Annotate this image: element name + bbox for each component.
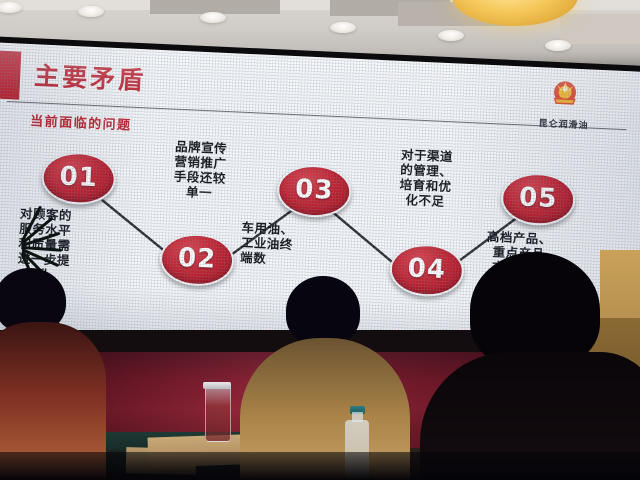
photo-scene: 主要矛盾 当前面临的问题: [0, 0, 640, 480]
audience-person-center-head: [286, 276, 360, 346]
ceiling-downlight: [438, 30, 464, 41]
audience-person-right-head: [470, 252, 600, 368]
ceiling-downlight: [330, 22, 356, 33]
ceiling-downlight: [0, 2, 22, 13]
water-tumbler: [205, 386, 231, 442]
tumbler-lid: [203, 382, 231, 389]
ceiling-downlight: [200, 12, 226, 23]
step-caption-03: 车用油、 工业油终 端数: [240, 220, 338, 269]
step-caption-04: 对于渠道 的管理、 培育和优 化不足: [377, 146, 476, 210]
foreground-shadow: [0, 452, 640, 480]
step-caption-02: 品牌宣传 营销推广 手段还较 单一: [151, 138, 250, 202]
ceiling-downlight: [545, 40, 571, 51]
ceiling-downlight: [78, 6, 104, 17]
